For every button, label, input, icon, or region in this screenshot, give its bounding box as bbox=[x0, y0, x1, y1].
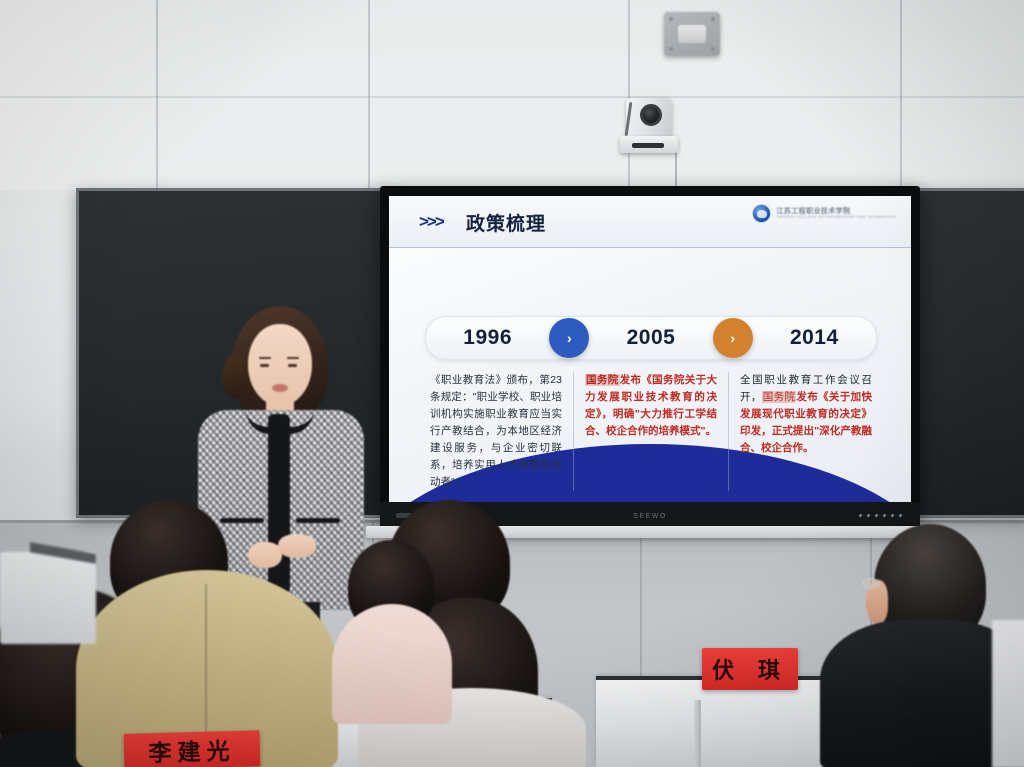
timeline-year-1996: 1996 bbox=[426, 326, 549, 350]
presenter-hair-bun bbox=[222, 354, 248, 398]
slide-title: 政策梳理 bbox=[466, 209, 546, 236]
slide-columns: 《职业教育法》颁布，第23条规定："职业学校、职业培训机构实施职业教育应当实行产… bbox=[419, 372, 883, 491]
audience-far-right bbox=[992, 620, 1024, 767]
slide-column-2014: 全国职业教育工作会议召开，国务院发布《关于加快发展现代职业教育的决定》印发，正式… bbox=[728, 372, 883, 491]
timeline-year-2014: 2014 bbox=[753, 326, 876, 350]
presenter-face bbox=[248, 324, 312, 406]
classroom-cabinet bbox=[0, 552, 96, 644]
highlight-term: 国务院 bbox=[762, 391, 797, 403]
interactive-flat-panel[interactable]: >>> 政策梳理 江苏工程职业技术学院 JIANGSU COLLEGE OF E… bbox=[380, 186, 920, 526]
audience-pink-body bbox=[332, 604, 452, 724]
wall-seam bbox=[368, 0, 370, 190]
slide-header-rule bbox=[389, 247, 911, 248]
presenter-hand-right bbox=[278, 534, 316, 558]
wall-device-box bbox=[664, 12, 720, 56]
nameplate-left: 李建光 bbox=[124, 730, 261, 767]
chevron-right-icon: >>> bbox=[419, 212, 443, 232]
logo-name-secondary: JIANGSU COLLEGE OF ENGINEERING AND TECHN… bbox=[776, 215, 897, 219]
presenter-mouth bbox=[272, 384, 288, 392]
presenter-hand-left bbox=[248, 542, 282, 568]
presenter-pocket bbox=[220, 518, 264, 523]
panel-brand-label: SEEWO bbox=[633, 513, 667, 520]
presenter-pocket bbox=[296, 518, 340, 523]
timeline-node-blue[interactable]: › bbox=[549, 318, 589, 358]
presentation-slide: >>> 政策梳理 江苏工程职业技术学院 JIANGSU COLLEGE OF E… bbox=[389, 196, 911, 502]
wall-seam bbox=[628, 0, 630, 190]
desk-leg bbox=[694, 700, 701, 767]
slide-column-1996: 《职业教育法》颁布，第23条规定："职业学校、职业培训机构实施职业教育应当实行产… bbox=[419, 372, 573, 491]
ptz-camera bbox=[620, 98, 678, 153]
panel-screen[interactable]: >>> 政策梳理 江苏工程职业技术学院 JIANGSU COLLEGE OF E… bbox=[389, 196, 911, 502]
wall-seam bbox=[0, 96, 1024, 98]
wall-device-panel bbox=[678, 25, 706, 43]
nameplate-right: 伏 琪 bbox=[702, 648, 798, 690]
logo-mark-icon bbox=[752, 204, 771, 223]
camera-lens-icon bbox=[640, 104, 662, 126]
highlight-term: 国务院 bbox=[585, 374, 620, 386]
screenshot-root: >>> 政策梳理 江苏工程职业技术学院 JIANGSU COLLEGE OF E… bbox=[0, 0, 1024, 767]
timeline-year-2005: 2005 bbox=[589, 326, 712, 350]
institution-logo: 江苏工程职业技术学院 JIANGSU COLLEGE OF ENGINEERIN… bbox=[752, 204, 897, 223]
glasses-icon bbox=[862, 578, 880, 589]
slide-column-2005: 国务院发布《国务院关于大力发展职业技术教育的决定》，明确"大力推行工学结合、校企… bbox=[573, 372, 728, 491]
camera-vent bbox=[632, 143, 664, 148]
timeline-node-orange[interactable]: › bbox=[713, 318, 753, 358]
wall-seam bbox=[900, 0, 902, 190]
timeline-bar: 1996 › 2005 › 2014 bbox=[425, 316, 877, 360]
panel-button-row[interactable] bbox=[859, 514, 902, 517]
